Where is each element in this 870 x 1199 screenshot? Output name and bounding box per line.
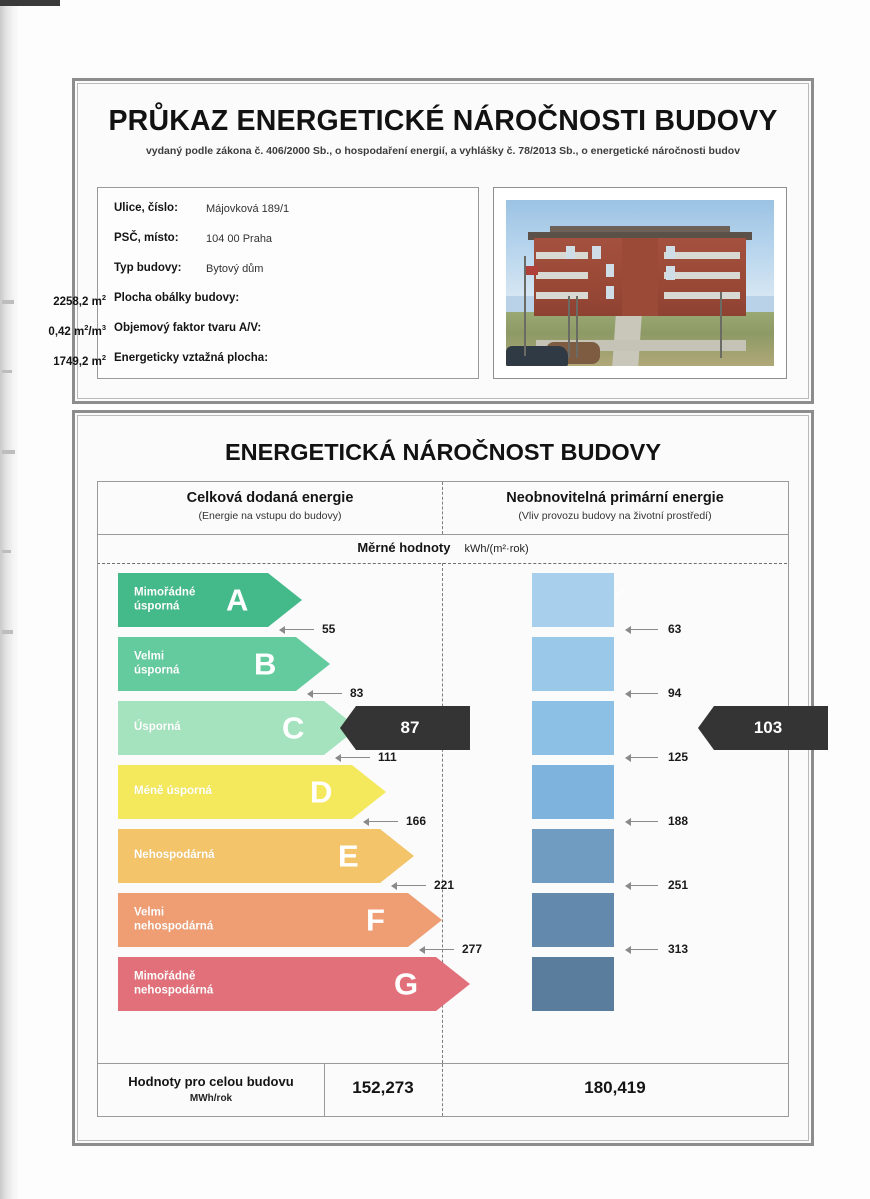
page-subtitle: vydaný podle zákona č. 406/2000 Sb., o h… [75, 145, 811, 157]
threshold-arrow-icon [626, 949, 658, 950]
primary-energy-block-c [532, 701, 614, 755]
photo-balcony [664, 292, 740, 299]
threshold-value: 125 [668, 750, 688, 764]
info-value: 2258,2 m2 [53, 293, 106, 308]
whole-building-row: Hodnoty pro celou budovu MWh/rok 152,273… [97, 1063, 789, 1117]
measure-unit: kWh/(m²·rok) [465, 543, 529, 555]
energy-class-a: Mimořádné úspornáA [118, 573, 302, 627]
energy-class-label: Úsporná [134, 721, 181, 735]
threshold-value: 166 [406, 814, 426, 828]
photo-balcony [664, 272, 740, 279]
primary-energy-scale: AKLÉŘI 6394125188251313103 [460, 573, 780, 1043]
info-label: PSČ, místo: [114, 232, 179, 244]
info-value: 104 00 Praha [206, 233, 272, 245]
photo-window [666, 266, 675, 280]
energy-class-label: Velmi nehospodárná [134, 906, 213, 933]
scan-top-artifact [0, 0, 60, 6]
energy-class-b: Velmi úspornáB [118, 637, 330, 691]
primary-energy-block-a [532, 573, 614, 627]
energy-class-letter: D [310, 777, 332, 808]
energy-class-e: NehospodárnáE [118, 829, 414, 883]
energy-class-letter: A [226, 585, 248, 616]
energy-class-f: Velmi nehospodárnáF [118, 893, 442, 947]
page-title: PRŮKAZ ENERGETICKÉ NÁROČNOSTI BUDOVY [75, 105, 811, 138]
energy-class-letter: G [394, 969, 418, 1000]
energy-class-letter: F [366, 905, 385, 936]
threshold-arrow-icon [626, 629, 658, 630]
primary-energy-block-g [532, 957, 614, 1011]
column-title: Celková dodaná energie [98, 490, 442, 506]
whole-building-unit: MWh/rok [98, 1093, 324, 1104]
energy-class-g: Mimořádně nehospodárnáG [118, 957, 470, 1011]
photo-window [606, 286, 614, 299]
chart-body: Mimořádné úspornáA55Velmi úspornáB83Úspo… [97, 563, 789, 1063]
column-header-delivered: Celková dodaná energie (Energie na vstup… [98, 482, 442, 534]
photo-window [666, 246, 675, 259]
document-page: PRŮKAZ ENERGETICKÉ NÁROČNOSTI BUDOVY vyd… [0, 0, 870, 1199]
scan-marks-artifact [2, 300, 16, 800]
photo-pole [720, 292, 722, 358]
whole-building-label-cell: Hodnoty pro celou budovu MWh/rok [98, 1064, 325, 1116]
info-value: 0,42 m2/m3 [48, 323, 106, 338]
threshold-arrow-icon [626, 885, 658, 886]
energy-class-letter: E [338, 841, 359, 872]
whole-building-value-primary: 180,419 [442, 1078, 788, 1098]
threshold-value: 251 [668, 878, 688, 892]
energy-class-d: Méně úspornáD [118, 765, 386, 819]
info-label: Energeticky vztažná plocha: [114, 352, 268, 364]
result-indicator-primary: 103 [698, 706, 828, 750]
building-info-box: Ulice, číslo:Májovková 189/1PSČ, místo:1… [97, 187, 479, 379]
threshold-value: 188 [668, 814, 688, 828]
threshold-value: 63 [668, 622, 681, 636]
photo-balcony [536, 292, 588, 299]
threshold-arrow-icon [280, 629, 314, 630]
photo-car [506, 346, 568, 366]
result-value: 87 [340, 718, 470, 738]
whole-building-value-delivered: 152,273 [324, 1078, 442, 1098]
threshold-value: 221 [434, 878, 454, 892]
info-value: Bytový dům [206, 263, 263, 275]
threshold-arrow-icon [626, 757, 658, 758]
measure-label: Měrné hodnoty [357, 540, 450, 555]
info-label: Typ budovy: [114, 262, 182, 274]
column-header-primary: Neobnovitelná primární energie (Vliv pro… [442, 482, 788, 534]
threshold-arrow-icon [420, 949, 454, 950]
energy-class-label: Nehospodárná [134, 849, 215, 863]
primary-energy-block-b [532, 637, 614, 691]
info-label: Ulice, číslo: [114, 202, 178, 214]
info-value: Májovková 189/1 [206, 203, 289, 215]
threshold-value: 83 [350, 686, 363, 700]
threshold-arrow-icon [308, 693, 342, 694]
photo-window [566, 246, 575, 259]
building-photo-frame [493, 187, 787, 379]
photo-balcony [664, 252, 740, 259]
threshold-value: 313 [668, 942, 688, 956]
column-subtitle: (Energie na vstupu do budovy) [98, 510, 442, 522]
threshold-arrow-icon [626, 821, 658, 822]
photo-balcony [536, 272, 588, 279]
measure-wrap: Měrné hodnotykWh/(m²·rok) [98, 539, 788, 557]
threshold-arrow-icon [364, 821, 398, 822]
threshold-arrow-icon [392, 885, 426, 886]
column-title: Neobnovitelná primární energie [442, 490, 788, 506]
threshold-arrow-icon [336, 757, 370, 758]
threshold-value: 94 [668, 686, 681, 700]
energy-class-label: Mimořádně nehospodárná [134, 970, 213, 997]
info-label: Plocha obálky budovy: [114, 292, 239, 304]
primary-energy-block-e [532, 829, 614, 883]
energy-class-letter: C [282, 713, 304, 744]
result-indicator-delivered: 87 [340, 706, 470, 750]
header-panel: PRŮKAZ ENERGETICKÉ NÁROČNOSTI BUDOVY vyd… [72, 78, 814, 404]
threshold-value: 111 [378, 750, 397, 764]
energy-class-letter: B [254, 649, 276, 680]
photo-balcony [536, 252, 588, 259]
energy-class-c: ÚspornáC [118, 701, 358, 755]
primary-energy-block-f [532, 893, 614, 947]
photo-pole [568, 296, 570, 358]
photo-pole [576, 296, 578, 358]
column-subtitle: (Vliv provozu budovy na životní prostřed… [442, 510, 788, 522]
column-headers: Celková dodaná energie (Energie na vstup… [97, 481, 789, 535]
building-photo [506, 200, 774, 366]
threshold-arrow-icon [626, 693, 658, 694]
photo-window [592, 246, 601, 259]
energy-class-label: Mimořádné úsporná [134, 586, 195, 613]
measure-row: Měrné hodnotykWh/(m²·rok) [97, 533, 789, 563]
photo-window [606, 264, 614, 277]
info-label: Objemový faktor tvaru A/V: [114, 322, 261, 334]
result-value: 103 [698, 718, 828, 738]
photo-sign [526, 266, 538, 275]
primary-energy-block-d [532, 765, 614, 819]
delivered-energy-scale: Mimořádné úspornáA55Velmi úspornáB83Úspo… [118, 573, 438, 1043]
photo-building-center [622, 238, 658, 316]
energy-class-label: Velmi úsporná [134, 650, 179, 677]
energy-class-label: Méně úsporná [134, 785, 212, 799]
threshold-value: 55 [322, 622, 335, 636]
section-title: ENERGETICKÁ NÁROČNOST BUDOVY [75, 439, 811, 466]
energy-panel: ENERGETICKÁ NÁROČNOST BUDOVY Celková dod… [72, 410, 814, 1146]
whole-building-label: Hodnoty pro celou budovu [98, 1074, 324, 1089]
info-value: 1749,2 m2 [53, 353, 106, 368]
